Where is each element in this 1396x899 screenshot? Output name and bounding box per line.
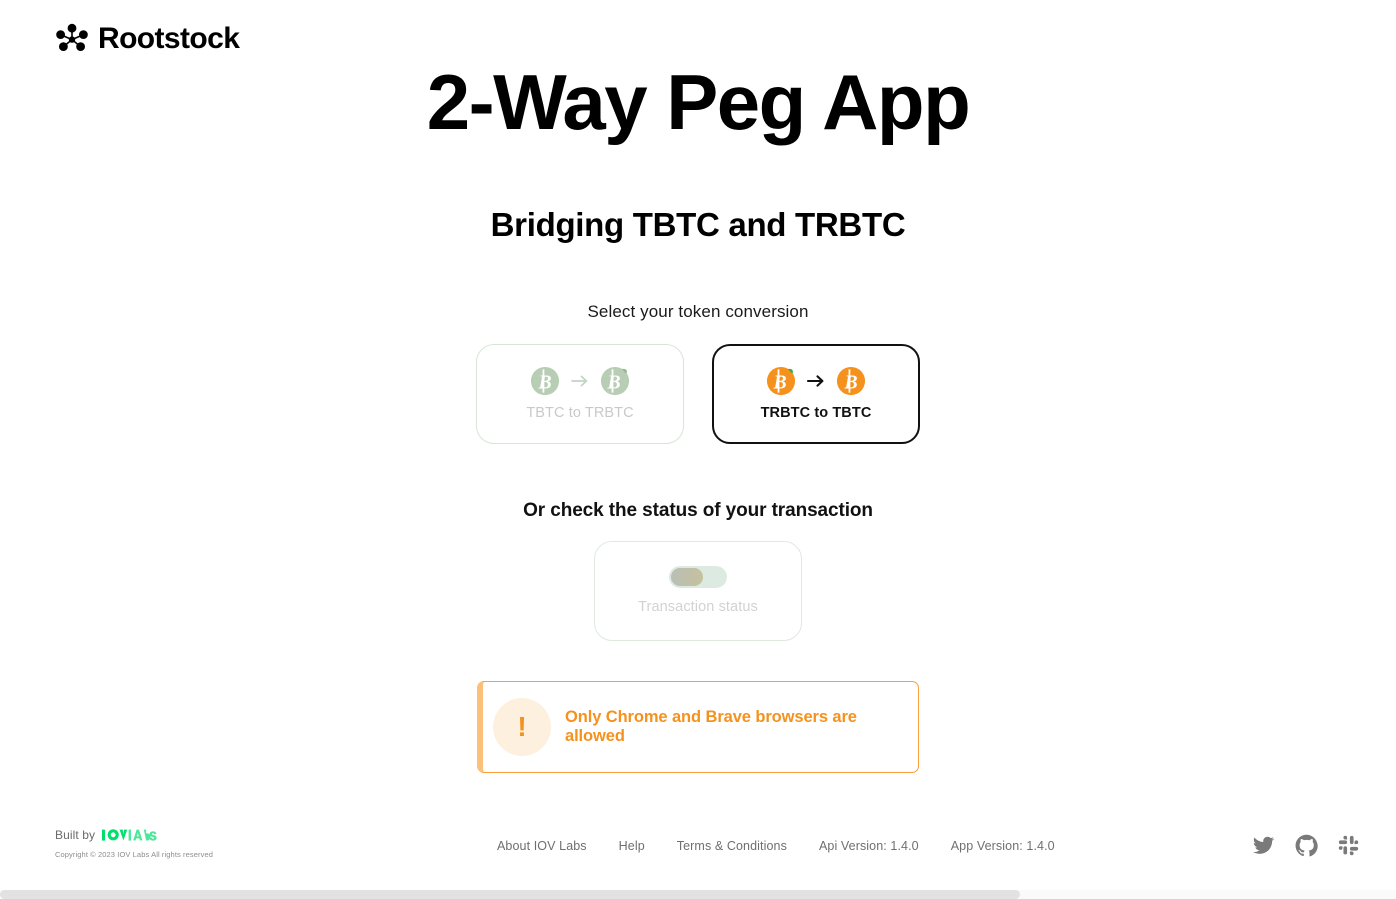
terms-and-conditions-link[interactable]: Terms & Conditions: [677, 839, 787, 853]
transaction-status-label: Transaction status: [638, 599, 758, 615]
rootstock-bitcoin-coin-icon: B: [600, 366, 630, 396]
transaction-status-card[interactable]: Transaction status: [594, 541, 802, 641]
app-version-label: App Version: 1.4.0: [951, 839, 1055, 853]
exclamation-icon: !: [493, 698, 551, 756]
footer-branding: Built by Copyright © 2023 IOV Labs All r…: [55, 827, 213, 859]
main-content: 2-Way Peg App Bridging TBTC and TRBTC Se…: [0, 0, 1396, 773]
conversion-option-label: TRBTC to TBTC: [761, 405, 872, 421]
arrow-right-icon: [570, 373, 590, 389]
horizontal-scrollbar-thumb[interactable]: [0, 890, 1020, 899]
browser-warning-message: Only Chrome and Brave browsers are allow…: [565, 708, 918, 746]
svg-text:B: B: [773, 372, 787, 394]
app-page: Rootstock 2-Way Peg App Bridging TBTC an…: [0, 0, 1396, 899]
transaction-status-prompt: Or check the status of your transaction: [523, 444, 873, 522]
api-version-label: Api Version: 1.4.0: [819, 839, 919, 853]
rootstock-bitcoin-coin-icon: B: [766, 366, 796, 396]
browser-warning-banner: ! Only Chrome and Brave browsers are all…: [477, 681, 919, 773]
toggle-knob: [671, 568, 703, 586]
svg-text:B: B: [843, 372, 857, 394]
conversion-icons-disabled: B B: [530, 366, 630, 396]
conversion-icons-active: B B: [766, 366, 866, 396]
select-conversion-label: Select your token conversion: [587, 244, 808, 322]
conversion-options: B B TBTC to TRBTC: [476, 322, 920, 444]
toggle-switch-icon[interactable]: [669, 566, 727, 588]
iovlabs-logo[interactable]: [102, 827, 164, 843]
svg-text:B: B: [537, 372, 551, 394]
page-subtitle: Bridging TBTC and TRBTC: [491, 144, 906, 244]
twitter-icon[interactable]: [1252, 834, 1275, 857]
horizontal-scrollbar-track[interactable]: [0, 890, 1396, 899]
page-footer: Built by Copyright © 2023 IOV Labs All r…: [0, 827, 1396, 887]
help-link[interactable]: Help: [619, 839, 645, 853]
copyright-text: Copyright © 2023 IOV Labs All rights res…: [55, 843, 213, 859]
footer-social-links: [1252, 834, 1359, 857]
conversion-option-trbtc-to-tbtc[interactable]: B B TRBTC to TBTC: [712, 344, 920, 444]
bitcoin-coin-icon: B: [836, 366, 866, 396]
github-icon[interactable]: [1295, 834, 1318, 857]
svg-text:B: B: [607, 372, 621, 394]
conversion-option-label: TBTC to TRBTC: [526, 405, 633, 421]
conversion-option-tbtc-to-trbtc[interactable]: B B TBTC to TRBTC: [476, 344, 684, 444]
page-title: 2-Way Peg App: [427, 62, 969, 144]
built-by-label: Built by: [55, 828, 95, 842]
about-iov-labs-link[interactable]: About IOV Labs: [497, 839, 587, 853]
slack-icon[interactable]: [1338, 835, 1359, 856]
footer-links: About IOV Labs Help Terms & Conditions A…: [497, 839, 1055, 853]
built-by: Built by: [55, 827, 213, 843]
bitcoin-coin-icon: B: [530, 366, 560, 396]
arrow-right-icon: [806, 373, 826, 389]
